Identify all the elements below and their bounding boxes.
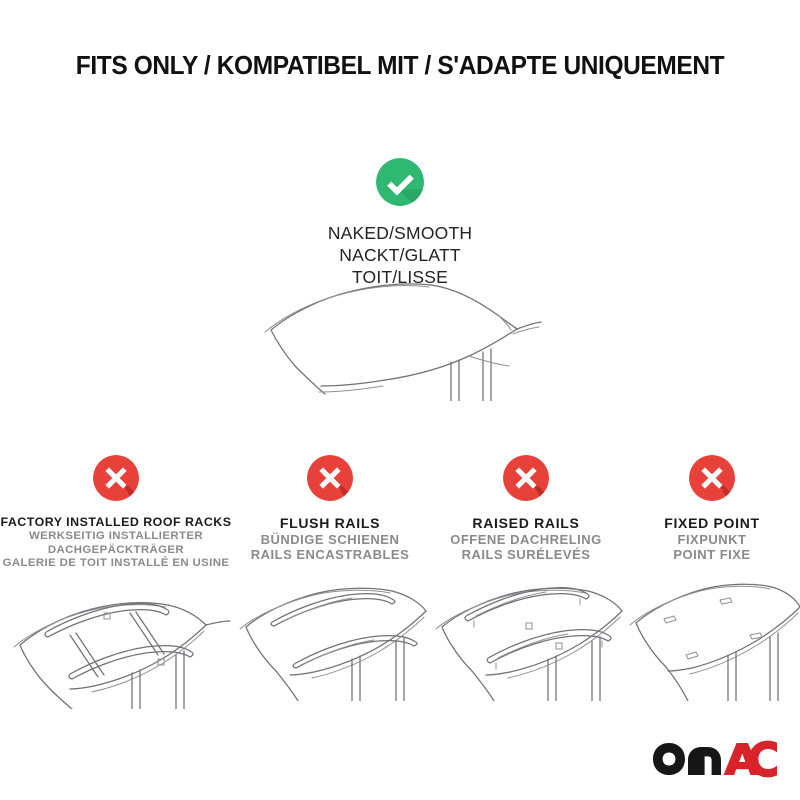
cross-circle-icon: [689, 455, 735, 501]
compatible-section: NAKED/SMOOTH NACKT/GLATT TOIT/LISSE: [0, 158, 800, 288]
incompatible-label-de: BÜNDIGE SCHIENEN: [232, 532, 428, 548]
page-title: FITS ONLY / KOMPATIBEL MIT / S'ADAPTE UN…: [16, 52, 784, 81]
incompatible-label-fr: POINT FIXE: [624, 547, 800, 563]
car-roof-raised-rails-illustration: [428, 569, 624, 701]
incompatible-label-en: FIXED POINT: [624, 515, 800, 532]
incompatible-label-en: RAISED RAILS: [428, 515, 624, 532]
cross-circle-icon: [307, 455, 353, 501]
incompatible-label-de-1: WERKSEITIG INSTALLIERTER: [0, 530, 232, 544]
car-roof-fixed-point-illustration: [624, 569, 800, 701]
incompatible-labels: FIXED POINT FIXPUNKT POINT FIXE: [624, 515, 800, 563]
car-roof-factory-rack-illustration: [0, 577, 232, 709]
incompatible-labels: FACTORY INSTALLED ROOF RACKS WERKSEITIG …: [0, 515, 232, 571]
incompatible-item-raised-rails: RAISED RAILS OFFENE DACHRELING RAILS SUR…: [428, 455, 624, 701]
incompatible-label-fr: GALERIE DE TOIT INSTALLÉ EN USINE: [0, 557, 232, 571]
incompatible-label-en: FLUSH RAILS: [232, 515, 428, 532]
incompatible-labels: FLUSH RAILS BÜNDIGE SCHIENEN RAILS ENCAS…: [232, 515, 428, 563]
incompatible-label-en: FACTORY INSTALLED ROOF RACKS: [0, 515, 232, 530]
compatible-label-en: NAKED/SMOOTH: [0, 222, 800, 244]
omac-logo: [652, 740, 778, 778]
incompatible-label-fr: RAILS ENCASTRABLES: [232, 547, 428, 563]
incompatible-item-flush-rails: FLUSH RAILS BÜNDIGE SCHIENEN RAILS ENCAS…: [232, 455, 428, 701]
incompatible-label-fr: RAILS SURÉLEVÉS: [428, 547, 624, 563]
check-circle-icon: [376, 158, 424, 206]
cross-circle-icon: [93, 455, 139, 501]
incompatible-item-fixed-point: FIXED POINT FIXPUNKT POINT FIXE: [624, 455, 800, 701]
incompatible-label-de: FIXPUNKT: [624, 532, 800, 548]
page-header: FITS ONLY / KOMPATIBEL MIT / S'ADAPTE UN…: [0, 52, 800, 81]
car-roof-naked-smooth-illustration: [255, 276, 555, 401]
compatible-label-de: NACKT/GLATT: [0, 244, 800, 266]
incompatible-labels: RAISED RAILS OFFENE DACHRELING RAILS SUR…: [428, 515, 624, 563]
incompatible-item-factory-rack: FACTORY INSTALLED ROOF RACKS WERKSEITIG …: [0, 455, 232, 709]
incompatible-label-de-2: DACHGEPÄCKTRÄGER: [0, 544, 232, 558]
cross-circle-icon: [503, 455, 549, 501]
incompatible-section: FACTORY INSTALLED ROOF RACKS WERKSEITIG …: [0, 455, 800, 709]
incompatible-label-de: OFFENE DACHRELING: [428, 532, 624, 548]
car-roof-flush-rails-illustration: [232, 569, 428, 701]
fitment-infographic: FITS ONLY / KOMPATIBEL MIT / S'ADAPTE UN…: [0, 0, 800, 800]
